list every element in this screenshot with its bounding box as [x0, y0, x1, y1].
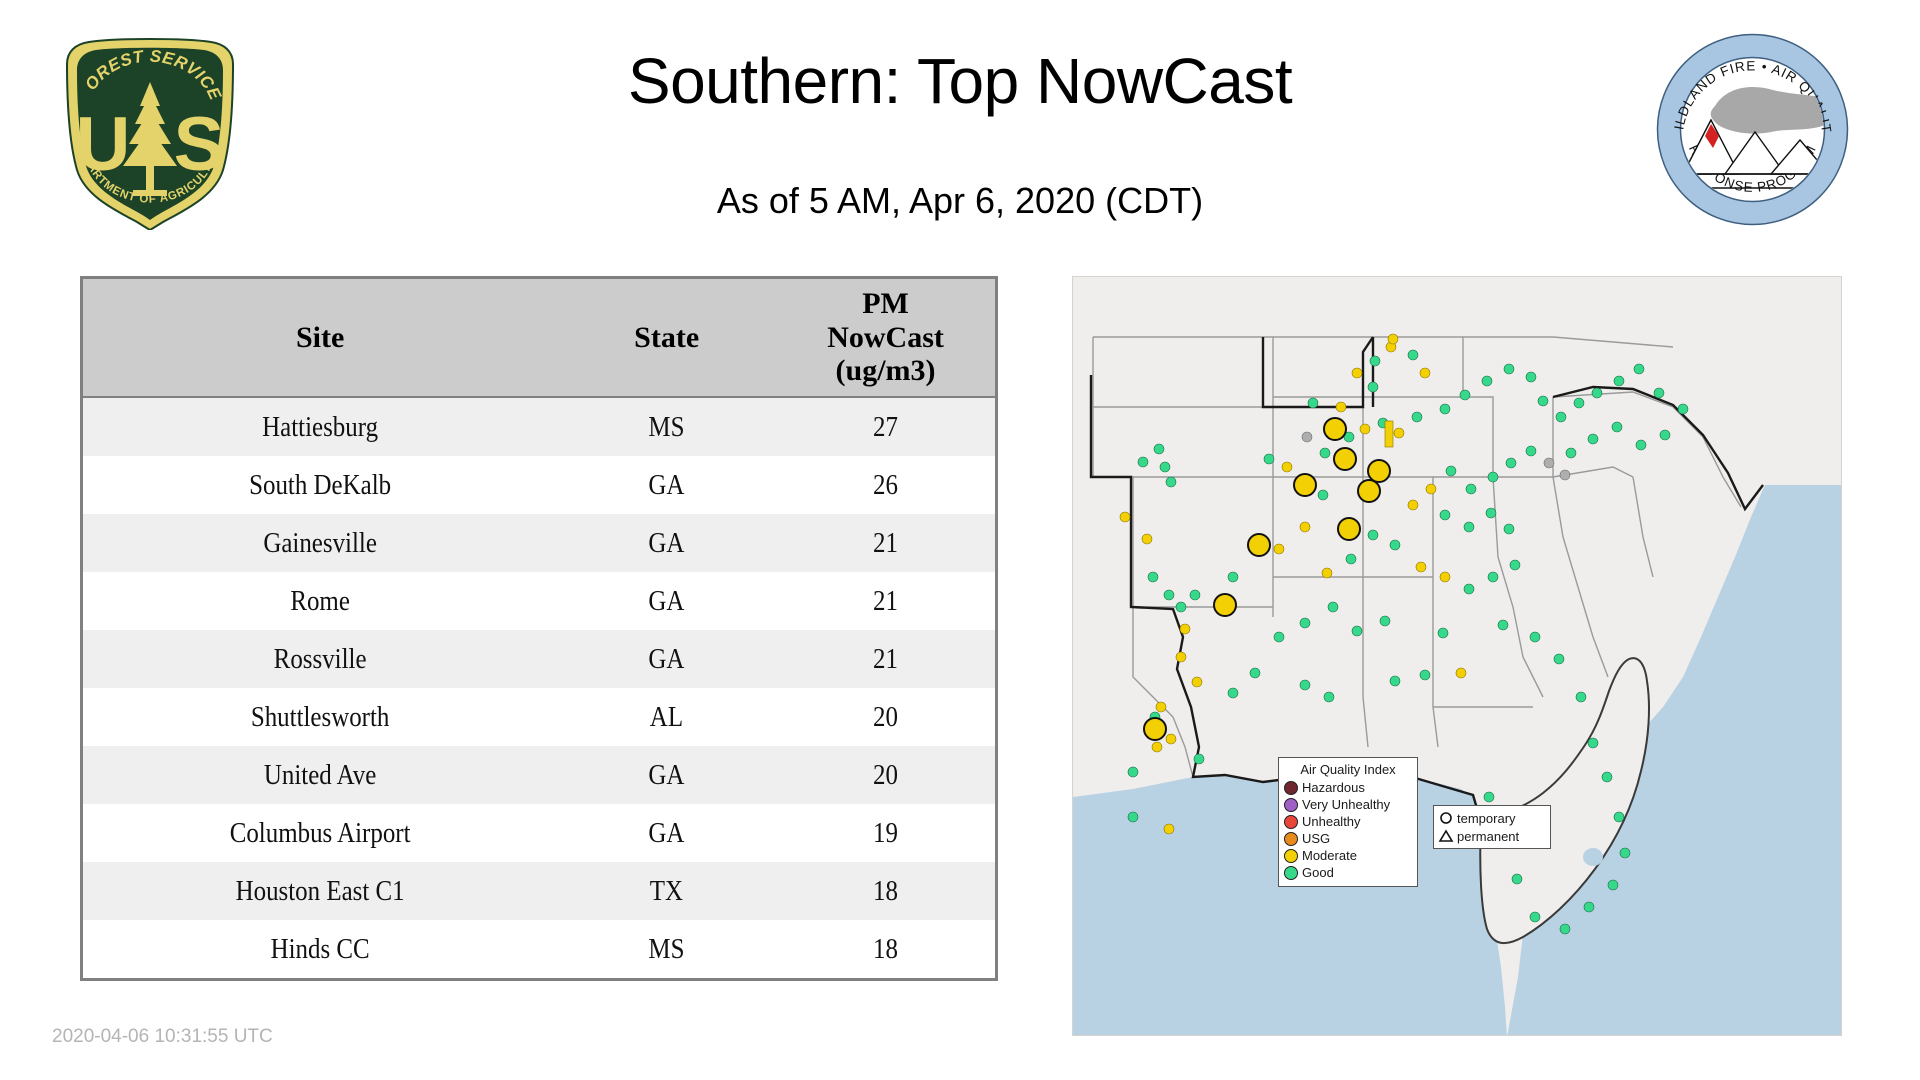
moderate-swatch-icon	[1284, 849, 1298, 863]
wfaqrp-logo: WILDLAND FIRE • AIR QUALITY RESPONSE PRO…	[1655, 32, 1850, 227]
cell-site: Shuttlesworth	[116, 688, 524, 746]
page-title: Southern: Top NowCast	[300, 48, 1620, 115]
cell-state: GA	[573, 746, 761, 804]
hazardous-swatch-icon	[1284, 781, 1298, 795]
table-row: United Ave GA 20	[83, 746, 995, 804]
cell-site: Hinds CC	[116, 920, 524, 978]
monitor-type-legend: temporary permanent	[1433, 805, 1551, 849]
column-header-pm: PM NowCast (ug/m3)	[776, 279, 995, 397]
cell-site: Houston East C1	[116, 862, 524, 920]
legend-item-hazardous: Hazardous	[1284, 779, 1412, 796]
legend-item-permanent: permanent	[1438, 827, 1546, 845]
good-swatch-icon	[1284, 866, 1298, 880]
cell-state: GA	[573, 630, 761, 688]
column-header-pm-line3: (ug/m3)	[780, 354, 991, 388]
legend-item-good: Good	[1284, 864, 1412, 881]
unhealthy-swatch-icon	[1284, 815, 1298, 829]
cell-state: AL	[573, 688, 761, 746]
triangle-marker-icon	[1438, 829, 1454, 843]
aqi-legend-title: Air Quality Index	[1284, 762, 1412, 777]
legend-item-moderate: Moderate	[1284, 847, 1412, 864]
table-row: Gainesville GA 21	[83, 514, 995, 572]
table-row: Rossville GA 21	[83, 630, 995, 688]
fs-letter-u: U	[76, 102, 131, 187]
table-header-row: Site State PM NowCast (ug/m3)	[83, 279, 995, 397]
table-row: Shuttlesworth AL 20	[83, 688, 995, 746]
table-row: Hattiesburg MS 27	[83, 397, 995, 456]
legend-label: USG	[1302, 831, 1330, 846]
legend-item-temporary: temporary	[1438, 809, 1546, 827]
cell-state: MS	[573, 920, 761, 978]
cell-site: United Ave	[116, 746, 524, 804]
cell-site: Rome	[116, 572, 524, 630]
map-canvas	[1073, 277, 1842, 1036]
cell-pm: 19	[791, 804, 979, 862]
cell-site: Hattiesburg	[116, 397, 524, 456]
table-row: Houston East C1 TX 18	[83, 862, 995, 920]
cell-pm: 21	[791, 572, 979, 630]
legend-label: Good	[1302, 865, 1334, 880]
legend-label: Moderate	[1302, 848, 1357, 863]
column-header-state: State	[557, 279, 776, 397]
cell-pm: 21	[791, 514, 979, 572]
circle-marker-icon	[1438, 811, 1454, 825]
aqi-legend: Air Quality Index Hazardous Very Unhealt…	[1278, 757, 1418, 887]
cell-state: MS	[573, 397, 761, 456]
usda-forest-service-logo: FOREST SERVICE DEPARTMENT OF AGRICULTURE…	[55, 30, 245, 230]
legend-label: temporary	[1457, 811, 1516, 826]
cell-state: GA	[573, 456, 761, 514]
cell-pm: 18	[791, 862, 979, 920]
top-nowcast-table: Site State PM NowCast (ug/m3) Hattiesbur…	[80, 276, 998, 981]
cell-state: GA	[573, 804, 761, 862]
legend-label: Very Unhealthy	[1302, 797, 1390, 812]
very-unhealthy-swatch-icon	[1284, 798, 1298, 812]
cell-state: TX	[573, 862, 761, 920]
cell-site: Gainesville	[116, 514, 524, 572]
legend-label: Unhealthy	[1302, 814, 1361, 829]
cell-pm: 20	[791, 746, 979, 804]
legend-item-usg: USG	[1284, 830, 1412, 847]
cell-state: GA	[573, 514, 761, 572]
column-header-pm-line1: PM	[780, 287, 991, 321]
usg-swatch-icon	[1284, 832, 1298, 846]
cell-pm: 26	[791, 456, 979, 514]
cell-pm: 20	[791, 688, 979, 746]
cell-site: Columbus Airport	[116, 804, 524, 862]
column-header-site: Site	[83, 279, 557, 397]
cell-pm: 27	[791, 397, 979, 456]
table-row: Hinds CC MS 18	[83, 920, 995, 978]
table-row: South DeKalb GA 26	[83, 456, 995, 514]
cell-site: Rossville	[116, 630, 524, 688]
legend-item-very-unhealthy: Very Unhealthy	[1284, 796, 1412, 813]
lake-okeechobee	[1583, 848, 1603, 866]
cell-pm: 21	[791, 630, 979, 688]
legend-label: Hazardous	[1302, 780, 1365, 795]
fs-letter-s: S	[174, 102, 225, 187]
page-subtitle: As of 5 AM, Apr 6, 2020 (CDT)	[300, 180, 1620, 222]
aqi-monitor-map[interactable]: Air Quality Index Hazardous Very Unhealt…	[1072, 276, 1842, 1036]
legend-label: permanent	[1457, 829, 1519, 844]
cell-state: GA	[573, 572, 761, 630]
generated-timestamp: 2020-04-06 10:31:55 UTC	[52, 1026, 273, 1048]
cell-site: South DeKalb	[116, 456, 524, 514]
table-row: Columbus Airport GA 19	[83, 804, 995, 862]
column-header-pm-line2: NowCast	[780, 321, 991, 355]
legend-item-unhealthy: Unhealthy	[1284, 813, 1412, 830]
slide-canvas: FOREST SERVICE DEPARTMENT OF AGRICULTURE…	[0, 0, 1920, 1080]
cell-pm: 18	[791, 920, 979, 978]
table-row: Rome GA 21	[83, 572, 995, 630]
